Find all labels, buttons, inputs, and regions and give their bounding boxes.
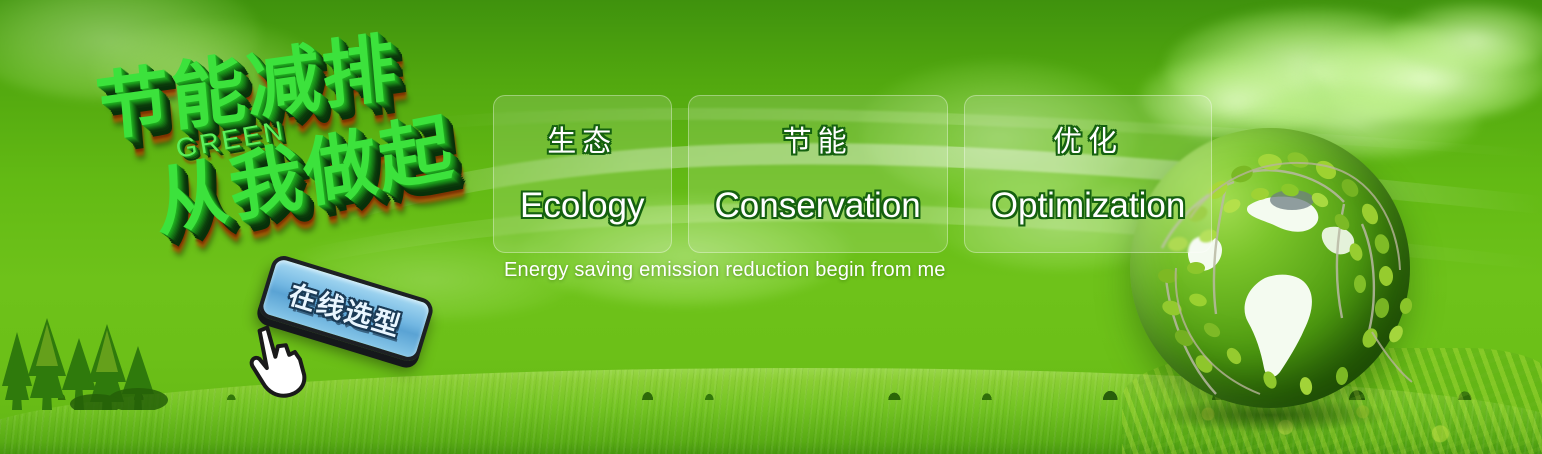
feature-card-en-label: Ecology: [520, 186, 645, 226]
feature-card-cn-label: 生态: [547, 118, 617, 160]
green-energy-banner: 节能减排 GREEN 从我做起 在线选型 生态 Ecology 节能 Conse…: [0, 0, 1542, 454]
feature-card-cn-label: 节能: [783, 118, 853, 160]
tagline-text: Energy saving emission reduction begin f…: [504, 259, 946, 282]
feature-card-en-label: Conservation: [715, 186, 921, 226]
feature-card-optimization[interactable]: 优化 Optimization: [964, 95, 1213, 253]
headline-3d: 节能减排 GREEN 从我做起: [91, 20, 516, 297]
feature-card-cn-label: 优化: [1053, 118, 1123, 160]
feature-card-ecology[interactable]: 生态 Ecology: [493, 95, 672, 253]
feature-card-conservation[interactable]: 节能 Conservation: [688, 95, 948, 253]
feature-cards: 生态 Ecology 节能 Conservation 优化 Optimizati…: [493, 95, 1212, 253]
hand-pointer-icon: [246, 322, 316, 400]
feature-card-en-label: Optimization: [991, 186, 1186, 226]
pine-trees-icon: [0, 314, 180, 410]
